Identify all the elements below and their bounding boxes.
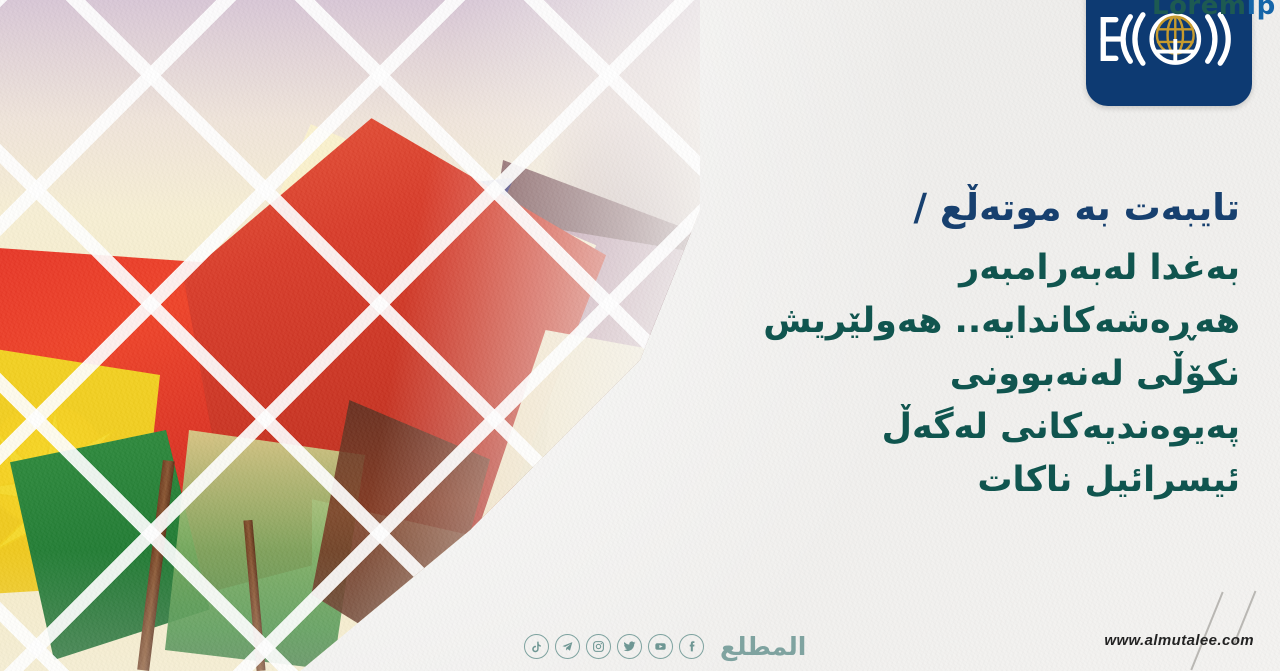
tiktok-icon[interactable] [524, 634, 549, 659]
headline-kicker: تایبەت بە موتەڵع / [620, 186, 1240, 230]
brand-arabic-name: المطلع [720, 634, 806, 659]
headline-line: بەغدا لەبەرامبەر [620, 242, 1240, 295]
instagram-icon[interactable] [586, 634, 611, 659]
youtube-icon[interactable] [648, 634, 673, 659]
brand-wordmark: LoremIp [1152, 0, 1276, 21]
headline-body: بەغدا لەبەرامبەر هەڕەشەکاندایە.. هەولێری… [620, 242, 1240, 508]
headline-line: ئیسرائیل ناکات [620, 454, 1240, 507]
telegram-icon[interactable] [555, 634, 580, 659]
twitter-icon[interactable] [617, 634, 642, 659]
social-bar: المطلع [524, 634, 806, 659]
decorative-slash [1190, 592, 1223, 671]
headline-block: تایبەت بە موتەڵع / بەغدا لەبەرامبەر هەڕە… [620, 186, 1240, 508]
poster-canvas: LoremIp تایبەت بە موتەڵع / بەغدا لەبەرام… [0, 0, 1280, 671]
brand-word-2: Ip [1246, 0, 1275, 21]
facebook-icon[interactable] [679, 634, 704, 659]
headline-line: پەیوەندیەکانی لەگەڵ [620, 401, 1240, 454]
headline-line: نکۆڵی لەنەبوونی [620, 348, 1240, 401]
brand-word-1: Lorem [1152, 0, 1246, 21]
headline-line: هەڕەشەکاندایە.. هەولێریش [620, 295, 1240, 348]
website-url[interactable]: www.almutalee.com [1104, 632, 1254, 649]
